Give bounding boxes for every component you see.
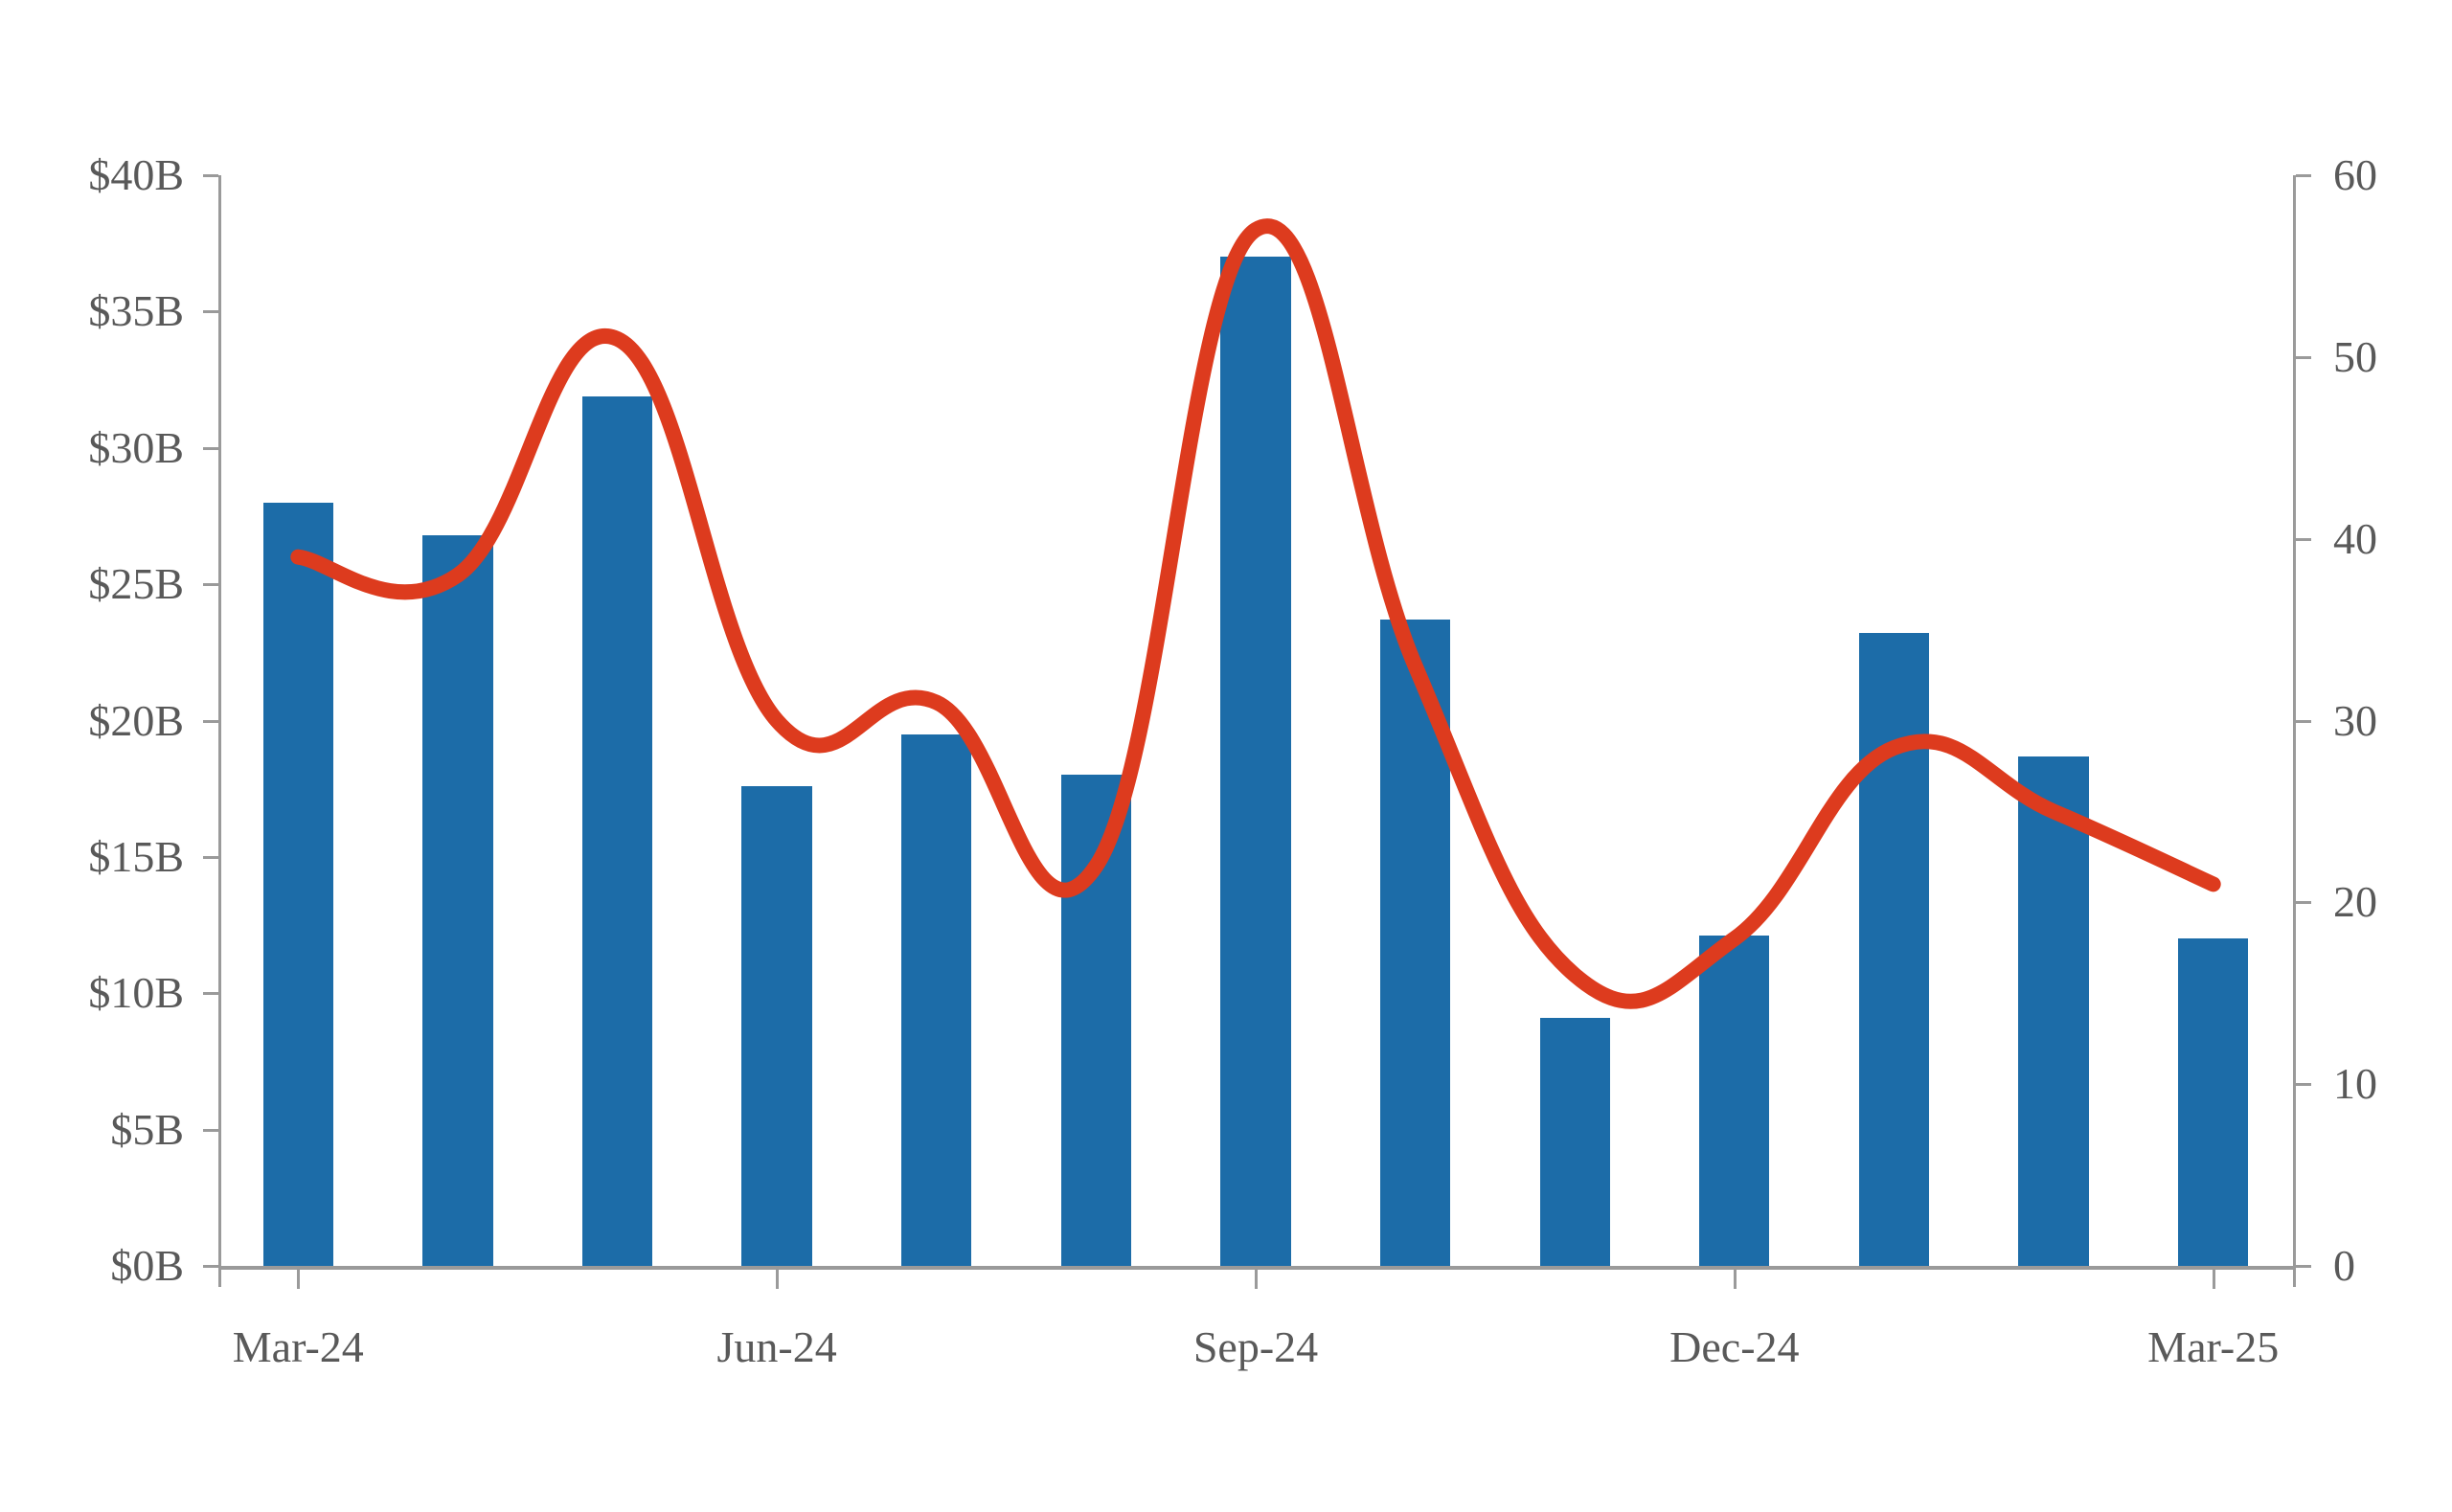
y-axis-right-tick-label: 10 [2333,1062,2377,1106]
bar [1380,620,1450,1266]
x-axis-tick-label: Jun-24 [717,1325,837,1369]
bar [2178,938,2248,1266]
x-axis-tick [2213,1270,2215,1289]
x-axis-tick-label: Sep-24 [1193,1325,1318,1369]
x-axis-tick [1255,1270,1258,1289]
y-axis-right-tick [2296,720,2311,723]
x-axis-tick [297,1270,300,1289]
y-axis-left-tick-label: $10B [0,971,184,1015]
y-axis-left-tick [203,720,218,723]
bar [1699,936,1769,1266]
y-axis-right-tick [2296,1265,2311,1268]
y-axis-left-tick-label: $15B [0,835,184,879]
y-axis-left-tick [203,856,218,859]
bar [263,503,333,1266]
bar [582,396,652,1266]
bar [1061,775,1131,1266]
chart-container: $0B$5B$10B$15B$20B$25B$30B$35B$40B 01020… [0,0,2452,1512]
plot-area [218,175,2293,1266]
y-axis-left-tick-label: $25B [0,562,184,606]
y-axis-right-tick-label: 20 [2333,880,2377,924]
y-axis-left-tick [203,1129,218,1132]
x-axis-tick-label: Mar-24 [233,1325,364,1369]
bar [1220,257,1290,1266]
y-axis-left-tick [203,310,218,313]
x-axis-tick [1734,1270,1737,1289]
y-axis-left-tick-label: $5B [0,1108,184,1152]
y-axis-right-tick-label: 30 [2333,699,2377,743]
x-axis-tick-label: Dec-24 [1669,1325,1799,1369]
bar [741,786,811,1266]
y-axis-left-tick [203,447,218,450]
bar [2018,756,2088,1266]
bar [1859,633,1929,1266]
y-axis-right-tick [2296,901,2311,904]
y-axis-left-tick [203,583,218,586]
y-axis-left-tick [203,1265,218,1268]
y-axis-right-tick [2296,538,2311,541]
y-axis-right-tick [2296,174,2311,177]
y-axis-right-line [2293,175,2296,1287]
y-axis-right-tick-label: 50 [2333,335,2377,379]
y-axis-left-tick-label: $35B [0,289,184,333]
y-axis-left-tick [203,992,218,995]
y-axis-left-tick-label: $30B [0,426,184,470]
y-axis-left-tick [203,174,218,177]
y-axis-right-tick-label: 60 [2333,153,2377,197]
y-axis-left-tick-label: $20B [0,699,184,743]
y-axis-right-tick [2296,1083,2311,1086]
bar [901,734,971,1266]
bar [422,535,492,1266]
x-axis-tick-label: Mar-25 [2147,1325,2279,1369]
y-axis-right-tick-label: 0 [2333,1244,2355,1288]
y-axis-right-tick-label: 40 [2333,517,2377,561]
y-axis-right-tick [2296,356,2311,359]
y-axis-left-tick-label: $40B [0,153,184,197]
y-axis-left-tick-label: $0B [0,1244,184,1288]
x-axis-tick [776,1270,779,1289]
bar [1540,1018,1610,1266]
